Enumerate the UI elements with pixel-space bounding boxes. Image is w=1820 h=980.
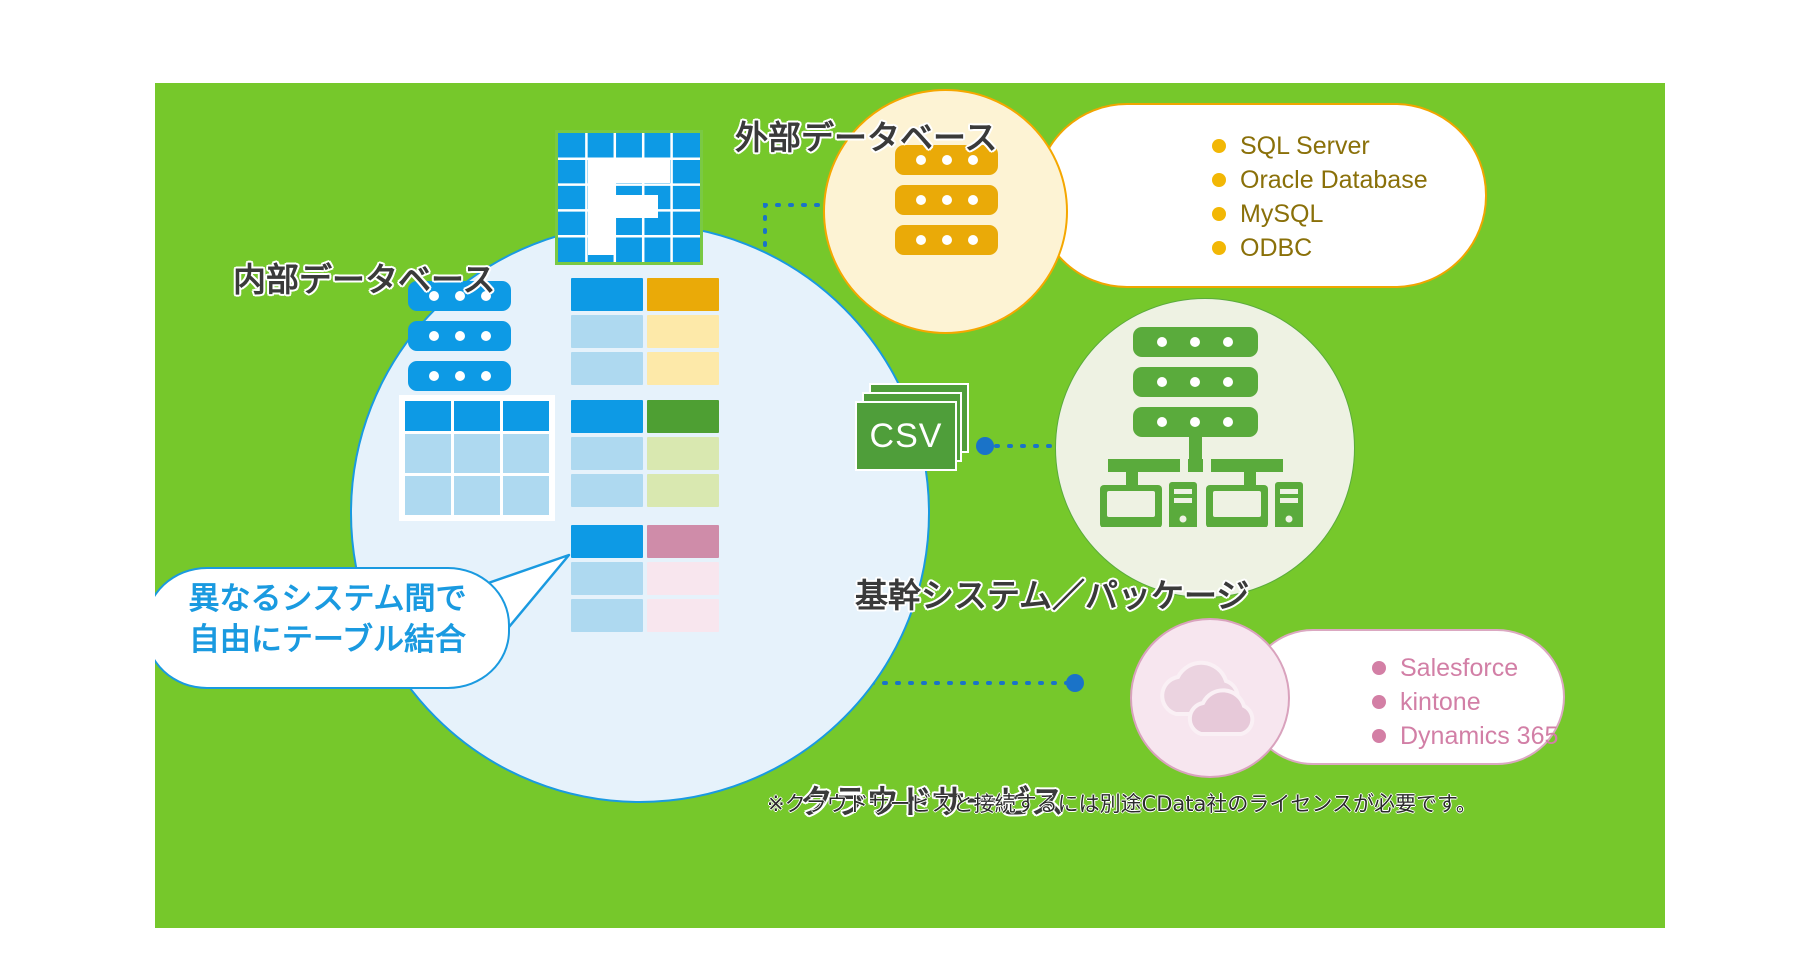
internal-plain-table	[399, 395, 555, 521]
list-item-label: kintone	[1400, 690, 1481, 715]
cloud-service-panel: Salesforce kintone Dynamics 365	[1245, 629, 1565, 765]
label-core-system: 基幹システム／パッケージ	[855, 569, 1249, 617]
csv-file-icon: CSV	[855, 383, 973, 471]
table-cell	[503, 434, 549, 473]
server-bar	[408, 321, 511, 351]
server-bar	[895, 225, 998, 255]
join-table-cloud-service	[571, 525, 719, 632]
table-grid	[402, 398, 552, 518]
fileforce-logo	[555, 130, 703, 265]
join-table-external-db	[571, 278, 719, 385]
table-cell	[647, 599, 719, 632]
list-item-label: Salesforce	[1400, 656, 1518, 681]
bullet-icon	[1212, 207, 1226, 221]
list-item-label: Oracle Database	[1240, 168, 1428, 193]
diagram-canvas: SQL Server Oracle Database MySQL ODBC	[0, 0, 1820, 980]
external-server-stack	[895, 145, 998, 255]
list-item: SQL Server	[1212, 129, 1428, 163]
server-bar	[408, 361, 511, 391]
list-item-label: ODBC	[1240, 236, 1312, 261]
table-header-cell	[647, 400, 719, 433]
table-cell	[571, 315, 643, 348]
table-row	[405, 434, 549, 473]
table-header-cell	[571, 278, 643, 311]
table-header-cell	[647, 278, 719, 311]
cloud-service-list: Salesforce kintone Dynamics 365	[1372, 651, 1558, 753]
table-cell	[454, 476, 500, 515]
list-item-label: SQL Server	[1240, 134, 1370, 159]
core-system-circle	[1055, 298, 1355, 598]
join-table-core-system	[571, 400, 719, 507]
bullet-icon	[1372, 695, 1386, 709]
table-cell	[405, 434, 451, 473]
list-item: kintone	[1372, 685, 1558, 719]
bullet-icon	[1372, 661, 1386, 675]
label-external-database: 外部データベース	[735, 111, 997, 159]
callout-bubble: 異なるシステム間で 自由にテーブル結合	[155, 553, 515, 693]
bullet-icon	[1212, 173, 1226, 187]
list-item: MySQL	[1212, 197, 1428, 231]
table-header-cell	[405, 401, 451, 431]
list-item: Salesforce	[1372, 651, 1558, 685]
table-cell	[405, 476, 451, 515]
callout-text: 異なるシステム間で 自由にテーブル結合	[155, 579, 510, 661]
external-database-list: SQL Server Oracle Database MySQL ODBC	[1212, 129, 1428, 265]
table-header-cell	[571, 400, 643, 433]
table-header-cell	[647, 525, 719, 558]
external-database-panel: SQL Server Oracle Database MySQL ODBC	[1035, 103, 1487, 288]
list-item: ODBC	[1212, 231, 1428, 265]
green-backdrop: SQL Server Oracle Database MySQL ODBC	[155, 83, 1665, 928]
label-internal-database: 内部データベース	[233, 253, 495, 301]
table-cell	[454, 434, 500, 473]
csv-card-front: CSV	[855, 401, 957, 471]
table-cell	[647, 437, 719, 470]
table-cell	[647, 352, 719, 385]
callout-line-2: 自由にテーブル結合	[155, 620, 510, 661]
core-system-icon	[1098, 327, 1313, 532]
bullet-icon	[1372, 729, 1386, 743]
table-header-cell	[503, 401, 549, 431]
cloud-icon	[1146, 652, 1276, 752]
table-row	[405, 476, 549, 515]
csv-label: CSV	[870, 417, 943, 456]
table-cell	[571, 352, 643, 385]
list-item: Oracle Database	[1212, 163, 1428, 197]
footnote-text: ※クラウドサービスと接続するには別途CData社のライセンスが必要です。	[767, 788, 1477, 818]
table-row	[405, 401, 549, 431]
wire-node-csv-out	[976, 437, 994, 455]
callout-line-1: 異なるシステム間で	[155, 579, 510, 620]
table-cell	[647, 562, 719, 595]
table-cell	[647, 474, 719, 507]
table-cell	[571, 474, 643, 507]
bullet-icon	[1212, 139, 1226, 153]
table-cell	[571, 437, 643, 470]
table-cell	[647, 315, 719, 348]
list-item: Dynamics 365	[1372, 719, 1558, 753]
bullet-icon	[1212, 241, 1226, 255]
list-item-label: MySQL	[1240, 202, 1323, 227]
table-cell	[503, 476, 549, 515]
table-header-cell	[454, 401, 500, 431]
cloud-service-circle	[1130, 618, 1290, 778]
wire-node-cloud-end	[1066, 674, 1084, 692]
server-bar	[895, 185, 998, 215]
list-item-label: Dynamics 365	[1400, 724, 1558, 749]
